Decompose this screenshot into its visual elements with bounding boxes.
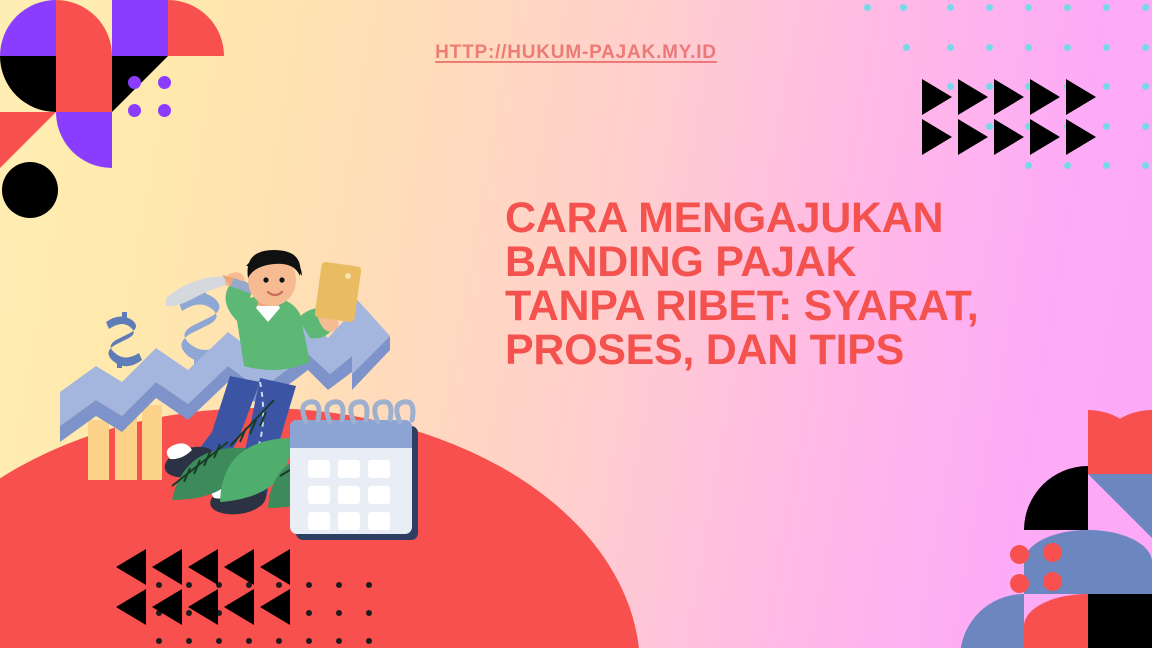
mosaic-cell-purple-quarter-2 xyxy=(56,112,112,168)
cyan-dot xyxy=(864,4,871,11)
cyan-dot xyxy=(1064,4,1071,11)
cyan-dot xyxy=(947,4,954,11)
br-red-dot-2 xyxy=(1043,543,1062,562)
mosaic-cell-red-triangle xyxy=(0,112,56,168)
black-dot xyxy=(306,582,312,588)
mosaic-purple-dot-3 xyxy=(128,104,141,117)
cyan-dot xyxy=(1142,4,1149,11)
black-dot xyxy=(336,638,342,644)
illustration-man-riding-growth-arrow xyxy=(60,250,425,550)
triangle-left-icon xyxy=(260,589,290,625)
triangle-left-icon xyxy=(116,589,146,625)
site-url-link[interactable]: HTTP://HUKUM-PAJAK.MY.ID xyxy=(0,42,1152,64)
triangle-left-icon xyxy=(224,589,254,625)
black-dot xyxy=(336,610,342,616)
triangle-right-icon xyxy=(1066,119,1096,155)
triangle-left-icon xyxy=(224,549,254,585)
cyan-dot xyxy=(1064,162,1071,169)
wall-calendar xyxy=(290,402,418,540)
black-dot xyxy=(246,638,252,644)
cyan-dot xyxy=(900,4,907,11)
br-red-dot-4 xyxy=(1043,572,1062,591)
cyan-dot xyxy=(1142,83,1149,90)
cyan-dot xyxy=(1142,162,1149,169)
page-title: CARA MENGAJUKAN BANDING PAJAK TANPA RIBE… xyxy=(505,196,1005,372)
mosaic-purple-dot-2 xyxy=(158,76,171,89)
black-dot xyxy=(336,582,342,588)
black-dot xyxy=(366,610,372,616)
cyan-dot xyxy=(1025,4,1032,11)
triangle-right-icon xyxy=(922,119,952,155)
mosaic-cell-black-quarter xyxy=(0,56,56,112)
black-dot xyxy=(366,638,372,644)
triangle-left-icon xyxy=(152,549,182,585)
br-red-dot-1 xyxy=(1010,545,1029,564)
black-dot xyxy=(366,582,372,588)
triangle-right-icon xyxy=(958,79,988,115)
black-dot xyxy=(156,638,162,644)
black-dot xyxy=(216,638,222,644)
cyan-dot xyxy=(1103,123,1110,130)
cyan-dot xyxy=(1142,123,1149,130)
br-red-dot-3 xyxy=(1010,574,1029,593)
triangle-left-icon xyxy=(116,549,146,585)
triangle-right-icon xyxy=(1030,79,1060,115)
poster-canvas: HTTP://HUKUM-PAJAK.MY.ID CARA MENGAJUKAN… xyxy=(0,0,1152,648)
dollar-sign-small xyxy=(106,312,142,368)
mosaic-purple-dot-1 xyxy=(128,76,141,89)
black-dot xyxy=(276,638,282,644)
triangle-right-icon xyxy=(922,79,952,115)
cyan-dot xyxy=(1103,4,1110,11)
black-dot xyxy=(306,610,312,616)
triangle-right-icon xyxy=(994,119,1024,155)
triangle-left-icon xyxy=(260,549,290,585)
br-black-square xyxy=(1088,594,1152,648)
br-black-quarter xyxy=(1024,466,1088,530)
br-slate-corner xyxy=(960,594,1024,648)
triangle-left-icon xyxy=(188,589,218,625)
cyan-dot xyxy=(1025,162,1032,169)
triangle-right-icon xyxy=(1066,79,1096,115)
mosaic-purple-dot-4 xyxy=(158,104,171,117)
cyan-dot xyxy=(986,4,993,11)
mosaic-black-circle xyxy=(2,162,58,218)
br-slate-triangle xyxy=(1088,474,1152,538)
triangle-right-icon xyxy=(958,119,988,155)
black-dot xyxy=(186,638,192,644)
geometric-mosaic-top-left xyxy=(0,0,225,225)
cyan-dot xyxy=(1103,162,1110,169)
cyan-dot xyxy=(1103,83,1110,90)
triangle-right-icon xyxy=(994,79,1024,115)
triangle-right-icon xyxy=(1030,119,1060,155)
triangle-left-icon xyxy=(188,549,218,585)
triangle-left-icon xyxy=(152,589,182,625)
black-dot xyxy=(306,638,312,644)
